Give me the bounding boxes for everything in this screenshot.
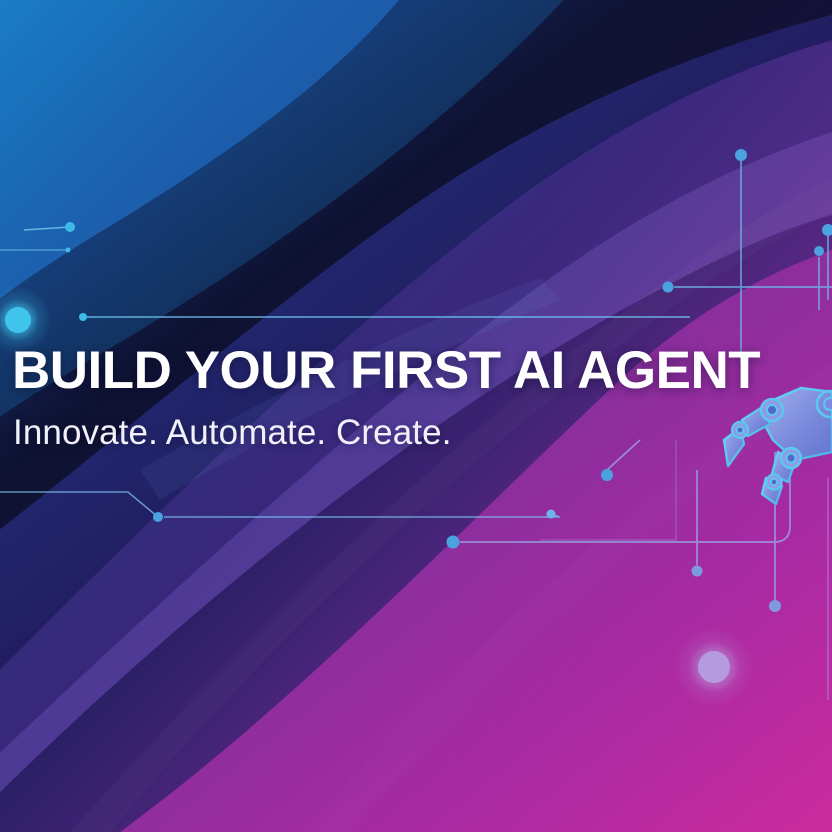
ai-agent-promo-banner: BUILD YOUR FIRST AI AGENT Innovate. Auto…: [0, 0, 832, 832]
page-subtitle: Innovate. Automate. Create.: [13, 415, 812, 450]
page-title: BUILD YOUR FIRST AI AGENT: [12, 344, 812, 397]
headline-block: BUILD YOUR FIRST AI AGENT Innovate. Auto…: [12, 344, 812, 450]
